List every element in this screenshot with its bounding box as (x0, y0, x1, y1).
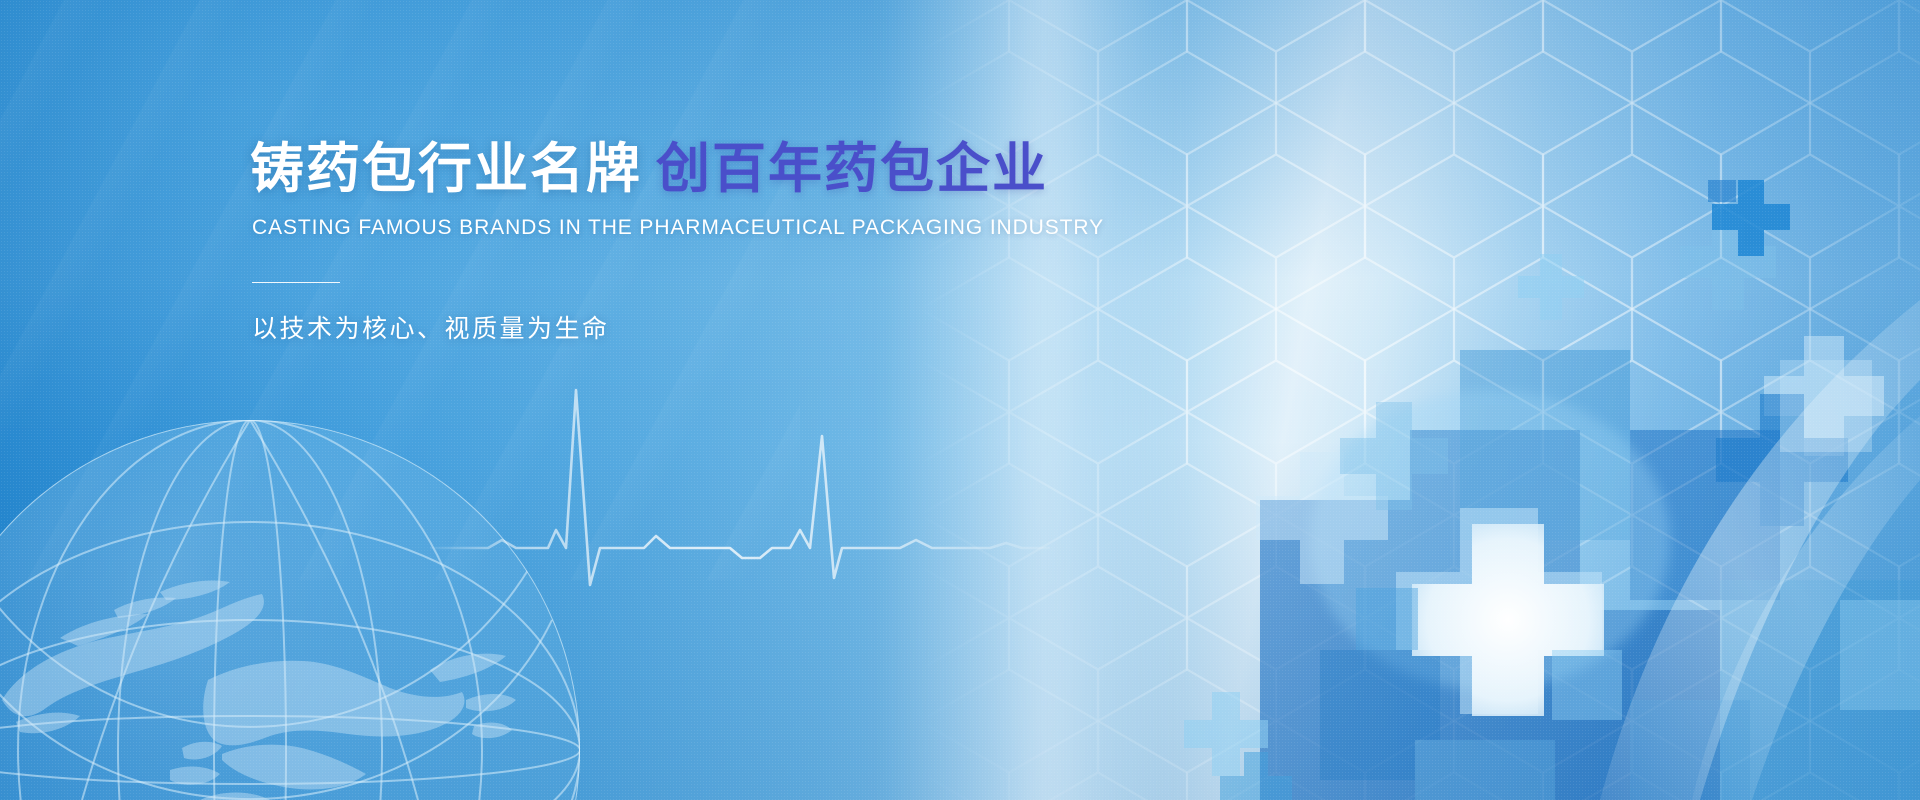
headline-subtitle-english: CASTING FAMOUS BRANDS IN THE PHARMACEUTI… (252, 216, 1230, 240)
pharma-packaging-banner: 铸药包行业名牌创百年药包企业 CASTING FAMOUS BRANDS IN … (0, 0, 1920, 800)
headline-primary: 铸药包行业名牌 (250, 139, 642, 199)
tagline: 以技术为核心、视质量为生命 (252, 309, 1230, 345)
background-light-column (880, 0, 1180, 800)
page-title: 铸药包行业名牌创百年药包企业 (250, 138, 1230, 202)
divider-line (252, 282, 340, 283)
headline-accent: 创百年药包企业 (656, 139, 1048, 199)
banner-content: 铸药包行业名牌创百年药包企业 CASTING FAMOUS BRANDS IN … (250, 138, 1230, 345)
